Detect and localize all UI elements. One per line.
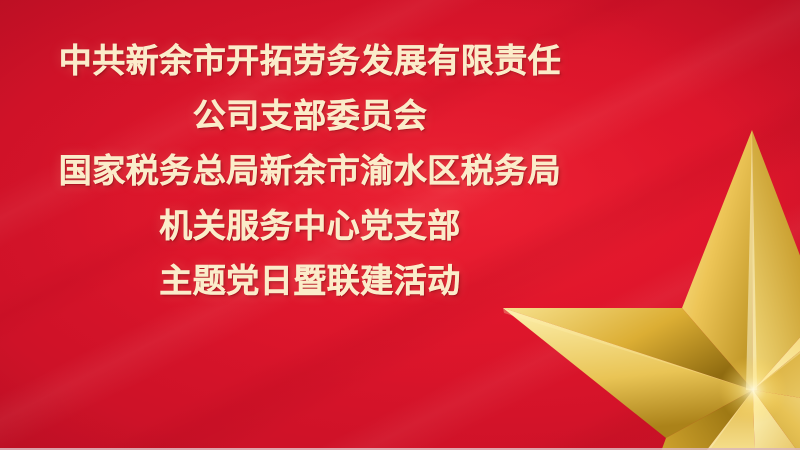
poster-canvas: 中共新余市开拓劳务发展有限责任 公司支部委员会 国家税务总局新余市渝水区税务局 … xyxy=(0,0,800,450)
headline-line-1: 中共新余市开拓劳务发展有限责任 xyxy=(0,44,620,77)
headline-line-5: 主题党日暨联建活动 xyxy=(0,264,620,297)
headline-line-2: 公司支部委员会 xyxy=(0,99,620,132)
headline-line-3: 国家税务总局新余市渝水区税务局 xyxy=(0,154,620,187)
headline-line-4: 机关服务中心党支部 xyxy=(0,209,620,242)
headline-block: 中共新余市开拓劳务发展有限责任 公司支部委员会 国家税务总局新余市渝水区税务局 … xyxy=(0,0,620,297)
